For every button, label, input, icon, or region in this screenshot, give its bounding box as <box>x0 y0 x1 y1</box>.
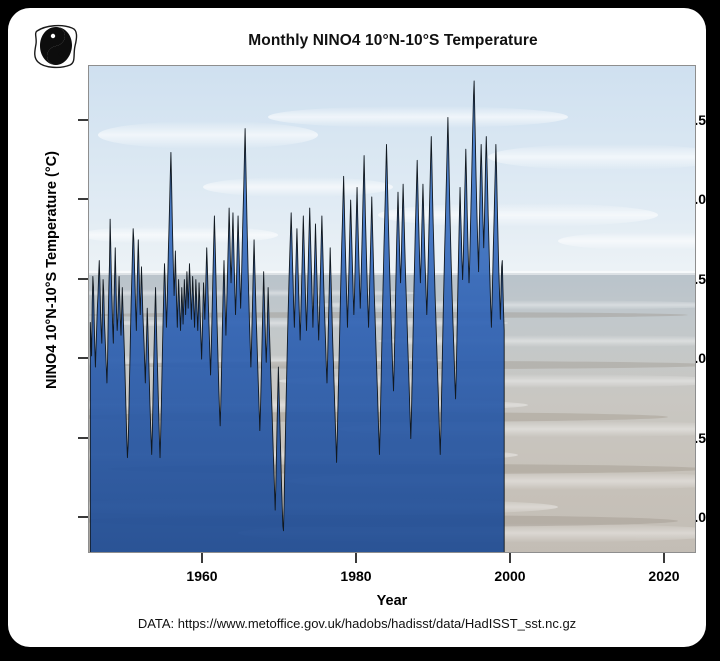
x-tick-label-1960: 1960 <box>172 568 232 584</box>
x-tick-label-1980: 1980 <box>326 568 386 584</box>
x-tick-mark <box>663 553 665 563</box>
figure-card: Monthly NINO4 10°N-10°S Temperature NINO… <box>8 8 706 647</box>
x-tick-mark <box>355 553 357 563</box>
y-tick-mark <box>78 437 88 439</box>
y-tick-mark <box>78 198 88 200</box>
y-axis-title: NINO4 10°N-10°S Temperature (°C) <box>44 40 60 500</box>
data-source-caption: DATA: https://www.metoffice.gov.uk/hadob… <box>28 616 686 631</box>
y-tick-mark <box>78 119 88 121</box>
x-tick-mark <box>201 553 203 563</box>
y-tick-mark <box>78 357 88 359</box>
y-tick-mark <box>78 278 88 280</box>
plot-area <box>88 65 696 553</box>
temperature-series <box>88 65 696 553</box>
x-tick-label-2000: 2000 <box>480 568 540 584</box>
x-axis-title: Year <box>88 593 696 609</box>
chart-title: Monthly NINO4 10°N-10°S Temperature <box>88 32 698 50</box>
x-tick-label-2020: 2020 <box>634 568 694 584</box>
series-area <box>90 81 504 553</box>
y-tick-mark <box>78 516 88 518</box>
x-tick-mark <box>509 553 511 563</box>
